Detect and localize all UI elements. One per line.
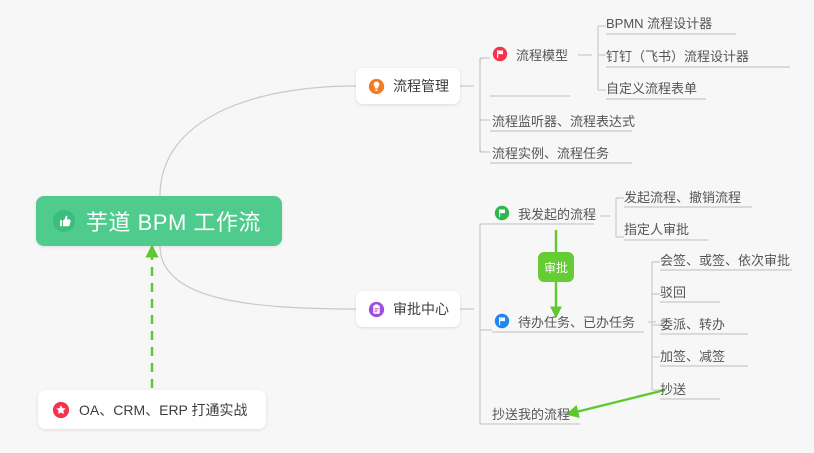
cc-arrow <box>568 390 665 414</box>
flag-icon <box>494 313 510 329</box>
node-todo-done-tasks[interactable]: 待办任务、已办任务 <box>494 311 635 331</box>
node-dingtalk-feishu-designer[interactable]: 钉钉（飞书）流程设计器 <box>606 45 749 65</box>
root-node[interactable]: 芋道 BPM 工作流 <box>36 196 282 246</box>
flag-icon <box>494 205 510 221</box>
node-countersign-orsign-sequential-label: 会签、或签、依次审批 <box>660 250 790 269</box>
star-icon <box>52 401 70 419</box>
node-bpmn-designer-label: BPMN 流程设计器 <box>606 13 712 32</box>
branch-node-approval-center[interactable]: 审批中心 <box>356 291 460 327</box>
node-start-cancel-process-label: 发起流程、撤销流程 <box>624 187 741 206</box>
node-custom-process-form-label: 自定义流程表单 <box>606 78 697 97</box>
node-bpmn-designer[interactable]: BPMN 流程设计器 <box>606 12 712 32</box>
lightbulb-icon <box>368 78 385 95</box>
node-start-cancel-process[interactable]: 发起流程、撤销流程 <box>624 186 741 206</box>
node-process-instance-task[interactable]: 流程实例、流程任务 <box>492 142 609 162</box>
node-process-model-label: 流程模型 <box>516 45 568 64</box>
node-carbon-copy-label: 抄送 <box>660 379 686 398</box>
node-carbon-copy[interactable]: 抄送 <box>660 378 686 398</box>
clipboard-icon <box>368 301 385 318</box>
flag-icon <box>492 46 508 62</box>
node-process-listener-expression[interactable]: 流程监听器、流程表达式 <box>492 110 635 130</box>
node-my-initiated-process-label: 我发起的流程 <box>518 204 596 223</box>
integration-note-label: OA、CRM、ERP 打通实战 <box>79 400 248 420</box>
node-dingtalk-feishu-designer-label: 钉钉（飞书）流程设计器 <box>606 46 749 65</box>
link-root-to-approval-center <box>160 246 356 309</box>
node-process-model[interactable]: 流程模型 <box>492 44 568 64</box>
node-countersign-orsign-sequential[interactable]: 会签、或签、依次审批 <box>660 249 790 269</box>
node-reject-label: 驳回 <box>660 282 686 301</box>
mindmap-canvas: 芋道 BPM 工作流 流程管理 流程模型 BPMN 流程设计器 钉钉（飞书）流 <box>0 0 814 453</box>
node-cc-to-me-process-label: 抄送我的流程 <box>492 404 570 423</box>
thumbs-up-icon <box>52 209 76 233</box>
node-delegate-transfer[interactable]: 委派、转办 <box>660 313 725 333</box>
node-add-remove-sign-label: 加签、减签 <box>660 346 725 365</box>
node-assignee-approval[interactable]: 指定人审批 <box>624 218 689 238</box>
node-reject[interactable]: 驳回 <box>660 281 686 301</box>
node-add-remove-sign[interactable]: 加签、减签 <box>660 345 725 365</box>
link-pm-bracket-top <box>480 58 486 64</box>
approval-badge-label: 审批 <box>544 259 568 276</box>
root-label: 芋道 BPM 工作流 <box>86 205 261 237</box>
branch-label-process-management: 流程管理 <box>393 76 449 96</box>
node-process-instance-task-label: 流程实例、流程任务 <box>492 143 609 162</box>
node-assignee-approval-label: 指定人审批 <box>624 219 689 238</box>
node-cc-to-me-process[interactable]: 抄送我的流程 <box>492 403 570 423</box>
node-process-listener-expression-label: 流程监听器、流程表达式 <box>492 111 635 130</box>
integration-note-node[interactable]: OA、CRM、ERP 打通实战 <box>38 390 266 429</box>
link-pm-bracket-bottom <box>480 146 486 152</box>
branch-node-process-management[interactable]: 流程管理 <box>356 68 460 104</box>
approval-badge[interactable]: 审批 <box>538 252 574 282</box>
node-delegate-transfer-label: 委派、转办 <box>660 314 725 333</box>
node-custom-process-form[interactable]: 自定义流程表单 <box>606 77 697 97</box>
node-my-initiated-process[interactable]: 我发起的流程 <box>494 203 596 223</box>
link-root-to-process-management <box>160 86 356 196</box>
branch-label-approval-center: 审批中心 <box>393 299 449 319</box>
node-todo-done-tasks-label: 待办任务、已办任务 <box>518 312 635 331</box>
